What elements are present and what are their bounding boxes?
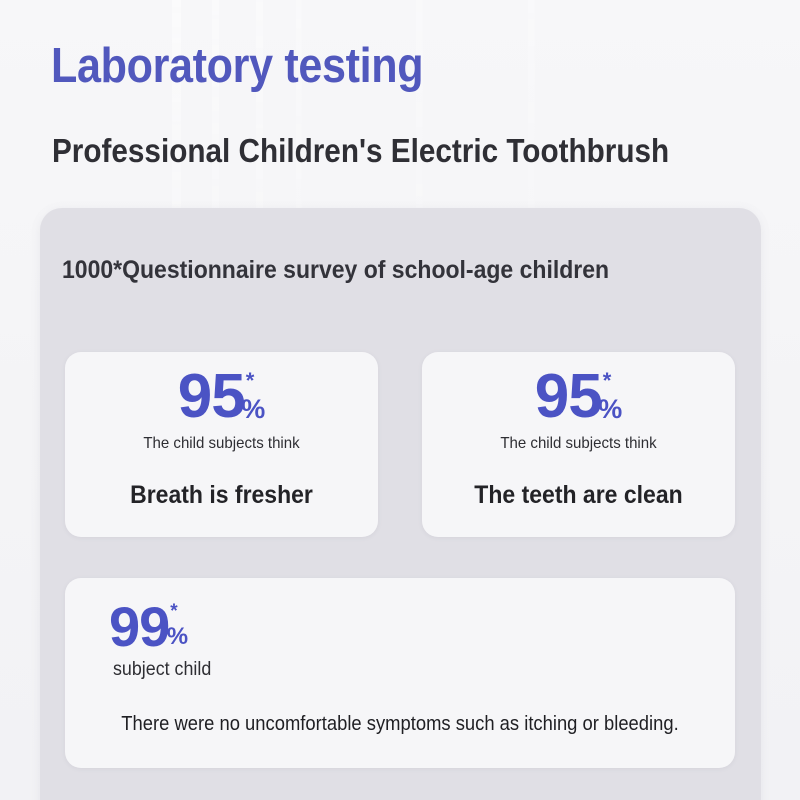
stat-value-group: 95 * % — [422, 368, 735, 427]
page-title: Laboratory testing — [51, 41, 423, 92]
stat-card-teeth: 95 * % The child subjects think The teet… — [422, 352, 735, 537]
stat-statement: The teeth are clean — [435, 481, 723, 510]
asterisk-icon: * — [170, 602, 177, 621]
stat-value: 95 — [178, 368, 245, 427]
stat-statement: There were no uncomfortable symptoms suc… — [92, 713, 708, 736]
stat-cards-row: 95 * % The child subjects think Breath i… — [65, 352, 735, 537]
stat-value: 95 — [535, 368, 602, 427]
asterisk-icon: * — [603, 370, 612, 392]
stat-sublabel: subject child — [113, 659, 698, 681]
asterisk-icon: * — [246, 370, 255, 392]
stat-card-comfort: 99 * % subject child There were no uncom… — [65, 578, 735, 768]
survey-panel-title: 1000*Questionnaire survey of school-age … — [62, 256, 609, 285]
survey-panel: 1000*Questionnaire survey of school-age … — [40, 208, 761, 800]
stat-card-breath: 95 * % The child subjects think Breath i… — [65, 352, 378, 537]
stat-unit: % — [598, 396, 622, 423]
stat-statement: Breath is fresher — [78, 481, 366, 510]
stat-value-group: 99 * % — [109, 600, 735, 653]
marketing-page: Laboratory testing Professional Children… — [0, 0, 800, 800]
stat-value: 99 — [109, 600, 169, 653]
stat-value-group: 95 * % — [65, 368, 378, 427]
stat-sublabel: The child subjects think — [431, 435, 725, 453]
stat-unit: % — [167, 625, 188, 649]
page-subtitle: Professional Children's Electric Toothbr… — [52, 133, 669, 169]
stat-unit: % — [241, 396, 265, 423]
stat-sublabel: The child subjects think — [74, 435, 368, 453]
